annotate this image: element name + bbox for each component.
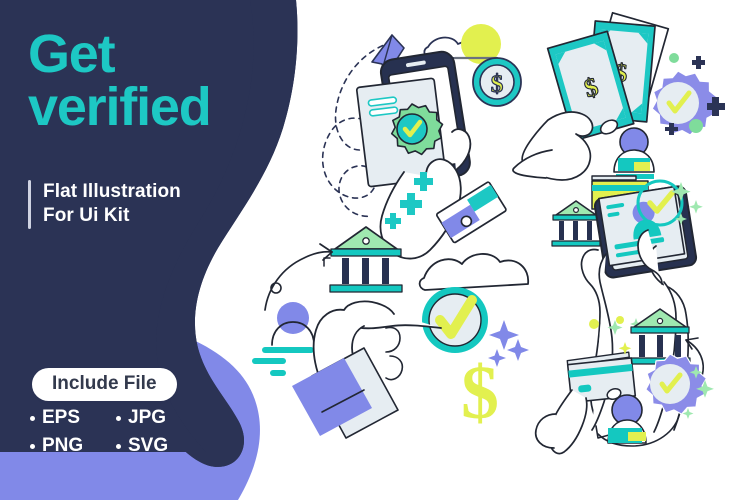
include-file-pill: Include File — [32, 368, 177, 401]
format-label: PNG — [42, 435, 83, 457]
dollar-sign-big: $ — [461, 351, 499, 435]
swoosh-arrow — [265, 252, 332, 310]
bullet-icon — [30, 444, 35, 449]
headline-line-2: verified — [28, 81, 298, 134]
avatar-person-center — [252, 302, 314, 376]
headline-line-1: Get — [28, 24, 114, 84]
avatar-head — [277, 302, 309, 334]
format-item-svg: SVG — [116, 432, 202, 460]
bank-column-3 — [382, 258, 389, 284]
page-title: Get verified — [28, 28, 298, 135]
subtitle-block: Flat Illustration For Ui Kit — [28, 180, 181, 229]
format-list: EPS JPG PNG SVG — [30, 404, 202, 460]
sparkle-star-2 — [507, 339, 529, 361]
bullet-icon — [116, 416, 121, 421]
format-item-eps: EPS — [30, 404, 116, 432]
subtitle-rule — [28, 180, 31, 229]
bank-building-center — [324, 227, 402, 292]
cloud-outline — [420, 254, 529, 290]
poster-canvas: $ — [0, 0, 750, 500]
format-label: JPG — [128, 407, 166, 429]
format-item-jpg: JPG — [116, 404, 202, 432]
bank-column-2 — [362, 258, 369, 284]
sparkle-star-1 — [489, 320, 519, 350]
bank-entablature — [331, 249, 401, 256]
subtitle-text: Flat Illustration For Ui Kit — [43, 180, 181, 229]
avatar-line-2 — [252, 358, 286, 364]
avatar-line-3 — [270, 370, 286, 376]
bullet-icon — [30, 416, 35, 421]
format-label: EPS — [42, 407, 80, 429]
hand-knuckle — [386, 327, 400, 352]
hand-knuckle-2 — [386, 356, 402, 380]
format-item-png: PNG — [30, 432, 116, 460]
bank-base — [330, 285, 402, 292]
avatar-line-1 — [262, 347, 314, 353]
bullet-icon — [116, 444, 121, 449]
bank-roof-dot — [363, 238, 369, 244]
format-label: SVG — [128, 435, 168, 457]
bank-column-1 — [342, 258, 349, 284]
